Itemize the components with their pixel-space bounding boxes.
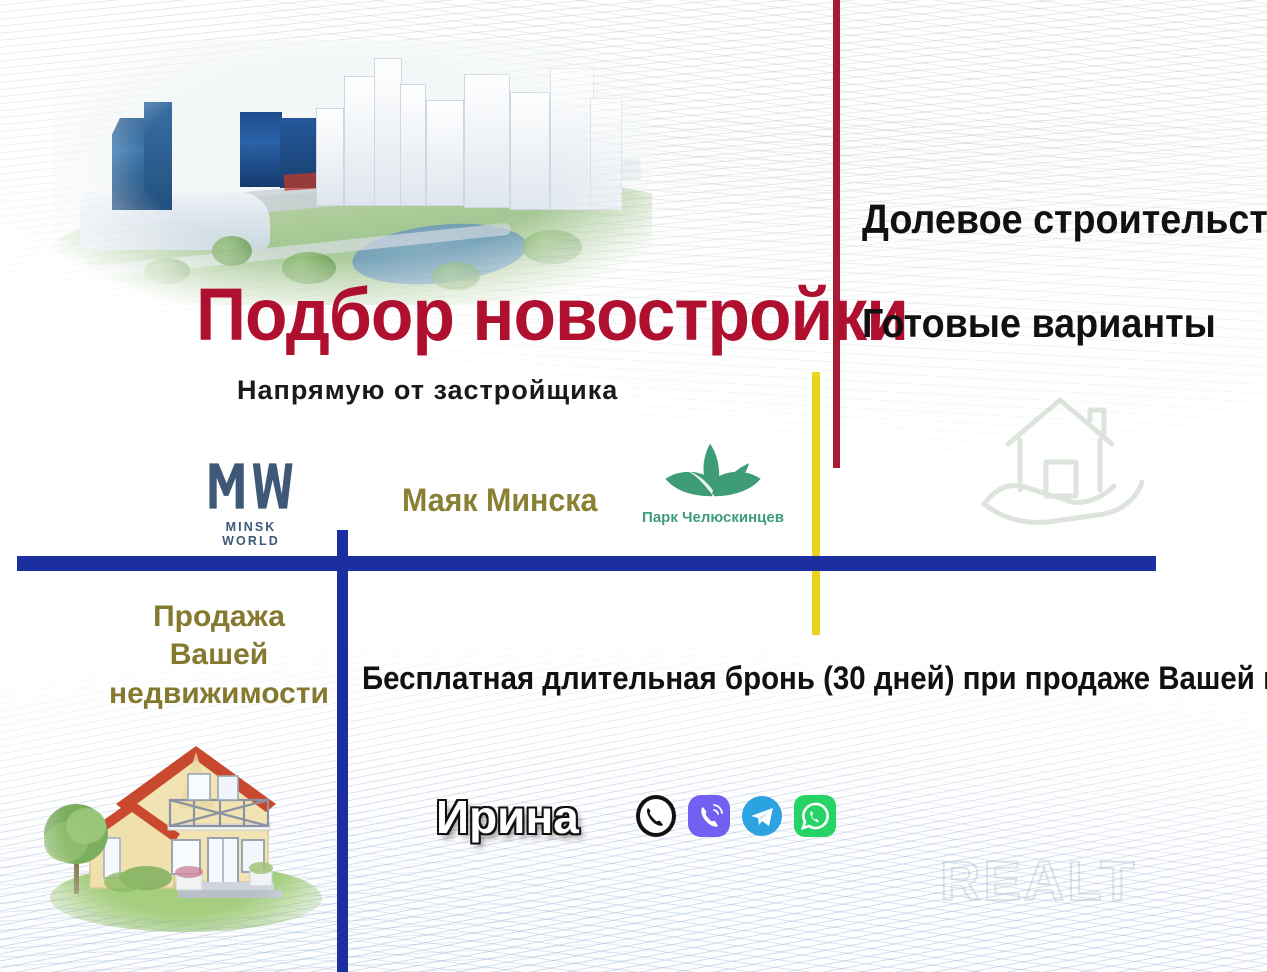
page-title: Подбор новостройки — [196, 278, 908, 352]
resale-heading-line-2: недвижимости — [104, 675, 334, 713]
contact-channels — [634, 794, 837, 838]
photo-tree-cluster-1 — [212, 236, 252, 266]
cottage-house-illustration — [28, 712, 338, 942]
partner-logo-label: MINSK WORLD — [195, 520, 307, 548]
photo-white-highrise-7 — [550, 68, 594, 210]
partner-logo-park-chelyuskintsev: Парк Челюскинцев — [638, 436, 788, 546]
viber-icon[interactable] — [687, 794, 731, 838]
whatsapp-icon[interactable] — [793, 794, 837, 838]
partner-logo-label: Парк Челюскинцев — [638, 509, 788, 526]
phone-icon[interactable] — [634, 794, 678, 838]
booking-offer-text: Бесплатная длительная бронь (30 дней) пр… — [362, 660, 1267, 697]
photo-blue-tower-1b — [144, 102, 172, 210]
partner-logo-mayak-minska: Маяк Минска — [402, 482, 597, 519]
house-in-hand-icon — [968, 378, 1158, 528]
photo-white-highrise-4 — [426, 100, 464, 206]
photo-white-highrise-9 — [590, 98, 622, 210]
photo-white-highrise-2 — [374, 58, 402, 206]
photo-tree-cluster-3 — [522, 230, 582, 264]
divider-blue-horizontal — [17, 556, 1156, 571]
photo-tree-cluster-5 — [144, 258, 190, 284]
watermark: REALT — [940, 848, 1138, 913]
telegram-icon[interactable] — [740, 794, 784, 838]
resale-heading-line-1: Продажа Вашей — [104, 598, 334, 675]
photo-white-highrise-6 — [510, 92, 550, 210]
promo-poster: Подбор новостройки Напрямую от застройщи… — [0, 0, 1267, 972]
offer-heading-ready-options: Готовые варианты — [862, 300, 1216, 347]
photo-white-highrise-8 — [316, 108, 344, 206]
photo-white-highrise-1 — [344, 76, 376, 206]
page-subtitle: Напрямую от застройщика — [237, 375, 618, 406]
resale-heading: Продажа Вашей недвижимости — [104, 598, 334, 713]
agent-name: Ирина — [436, 790, 579, 844]
photo-white-highrise-3 — [400, 84, 426, 206]
photo-white-highrise-5 — [464, 74, 510, 208]
photo-blue-tower-2 — [240, 112, 282, 187]
divider-blue-vertical — [337, 530, 348, 972]
divider-crimson-vertical — [833, 0, 840, 468]
green-leaf-icon — [638, 436, 788, 506]
partner-logo-minsk-world: MINSK WORLD — [195, 458, 307, 543]
offer-heading-shared-construction: Долевое строительство — [862, 196, 1267, 243]
mw-monogram-icon — [195, 458, 307, 514]
divider-yellow-vertical — [812, 372, 820, 635]
cityscape-photo — [52, 40, 652, 305]
